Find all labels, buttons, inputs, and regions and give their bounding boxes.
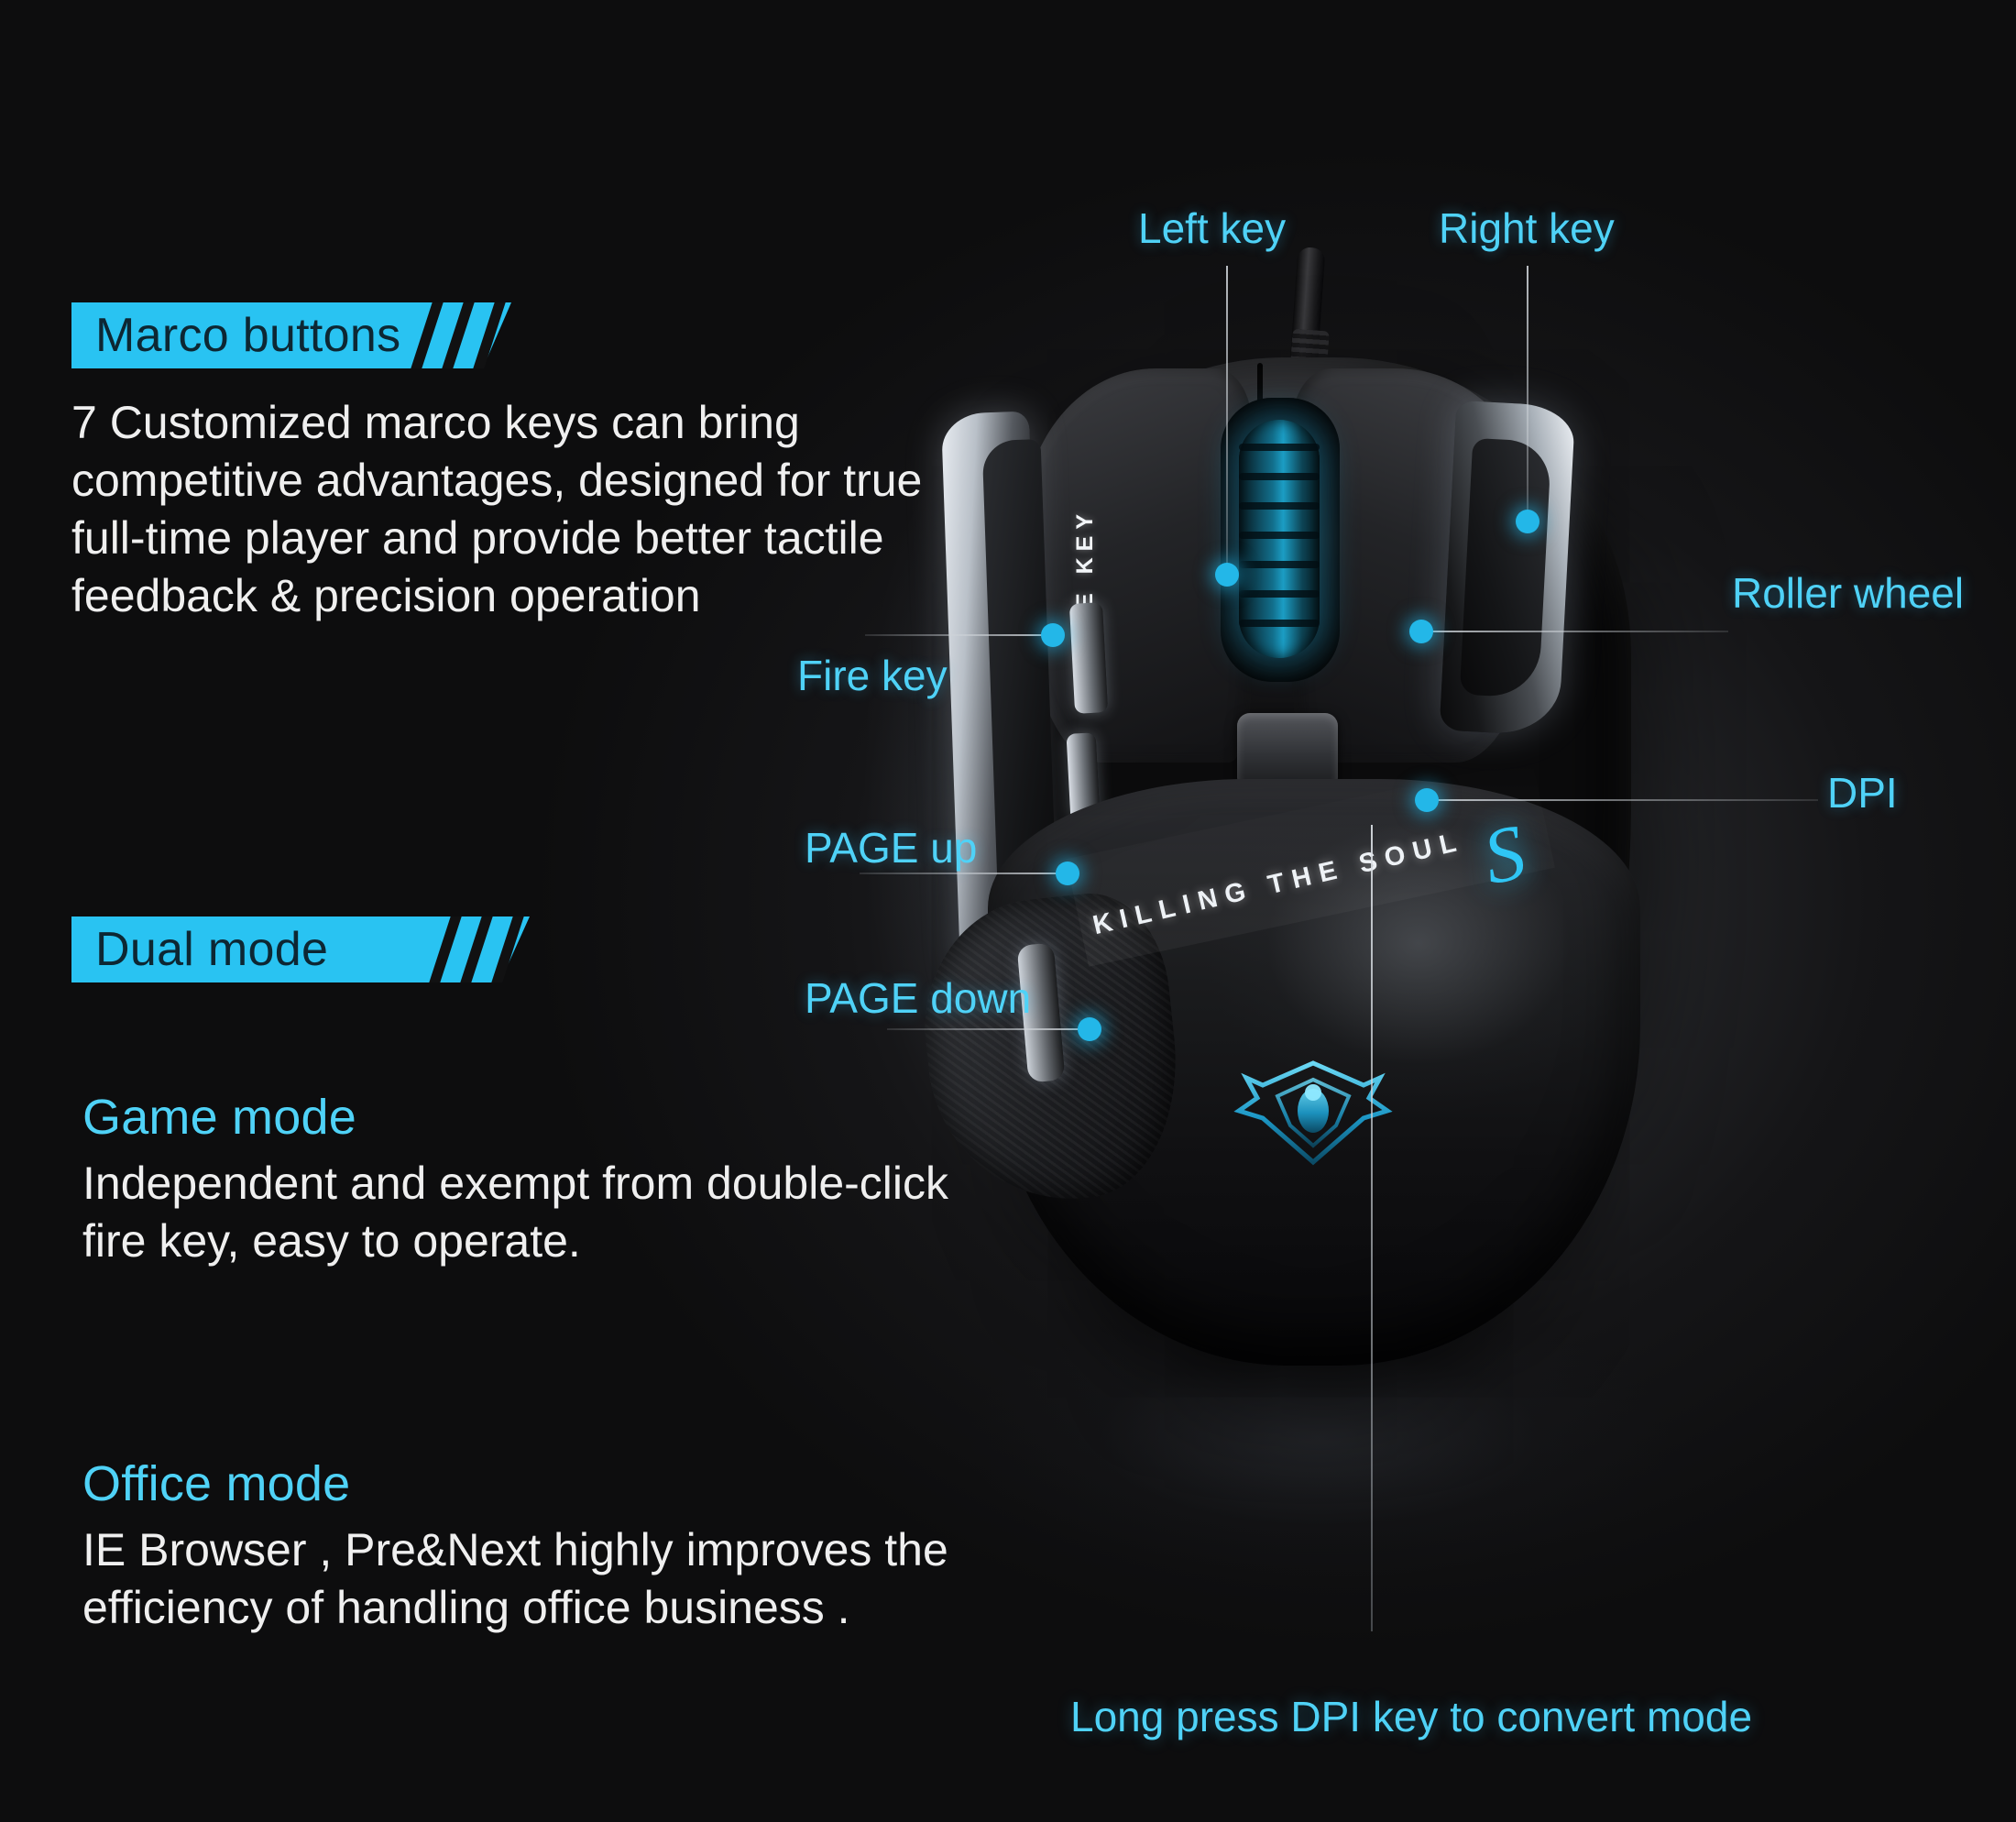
banner-marco-label: Marco buttons — [95, 308, 400, 363]
callout-fire-key: Fire key — [797, 651, 948, 700]
banner-dual-mode: Dual mode — [71, 916, 530, 982]
callout-dot-page-up — [1056, 862, 1079, 885]
leader-line-roller-wheel — [1426, 631, 1728, 632]
bottom-caption-dpi-mode: Long press DPI key to convert mode — [1070, 1692, 1752, 1741]
gaming-mouse-product-image: FIRE KEY KILLING THE SOUL S — [935, 302, 1686, 1439]
wheel-rib — [1239, 502, 1320, 510]
callout-dot-dpi — [1415, 788, 1439, 812]
leader-line-fire-key — [865, 634, 1045, 636]
office-mode-paragraph: IE Browser , Pre&Next highly improves th… — [82, 1521, 1035, 1637]
banner-dual-label: Dual mode — [95, 922, 328, 977]
callout-dot-page-down — [1078, 1017, 1101, 1041]
banner-marco-buttons: Marco buttons — [71, 302, 511, 368]
section-game-mode: Game mode Independent and exempt from do… — [82, 1089, 1008, 1270]
leader-line-page-down — [887, 1028, 1085, 1030]
callout-page-down: PAGE down — [805, 973, 1031, 1023]
macro-key-slot — [1069, 602, 1108, 714]
callout-dot-roller-wheel — [1409, 620, 1433, 643]
wheel-rib — [1239, 532, 1320, 539]
marco-paragraph: 7 Customized marco keys can bring compet… — [71, 394, 997, 625]
left-click-button — [1023, 368, 1252, 763]
leader-line-dpi — [1430, 799, 1818, 801]
right-side-inner-panel — [1460, 438, 1552, 698]
leader-line-page-up — [860, 873, 1063, 874]
wheel-rib — [1239, 444, 1320, 451]
callout-left-key: Left key — [1138, 203, 1286, 253]
callout-page-up: PAGE up — [805, 823, 977, 873]
callout-dot-right-key — [1516, 510, 1539, 533]
callout-dot-fire-key — [1041, 623, 1065, 647]
game-mode-paragraph: Independent and exempt from double-click… — [82, 1155, 1008, 1270]
game-mode-heading: Game mode — [82, 1089, 1008, 1146]
leader-line-left-key — [1226, 266, 1228, 577]
wheel-rib — [1239, 473, 1320, 480]
section-marco-buttons: Marco buttons 7 Customized marco keys ca… — [71, 302, 997, 625]
infographic-canvas: Marco buttons 7 Customized marco keys ca… — [0, 0, 2016, 1822]
leader-line-dpi-mode-caption — [1371, 825, 1373, 1631]
wheel-rib — [1239, 620, 1320, 627]
leader-line-right-key — [1527, 266, 1528, 524]
callout-roller-wheel: Roller wheel — [1732, 568, 1964, 618]
office-mode-heading: Office mode — [82, 1455, 1035, 1512]
scroll-wheel — [1239, 420, 1320, 658]
wheel-rib — [1239, 590, 1320, 598]
spider-logo-icon — [1226, 1058, 1400, 1168]
wheel-rib — [1239, 561, 1320, 568]
callout-dpi: DPI — [1827, 768, 1898, 818]
callout-dot-left-key — [1215, 563, 1239, 587]
section-office-mode: Office mode IE Browser , Pre&Next highly… — [82, 1455, 1035, 1637]
callout-right-key: Right key — [1439, 203, 1615, 253]
